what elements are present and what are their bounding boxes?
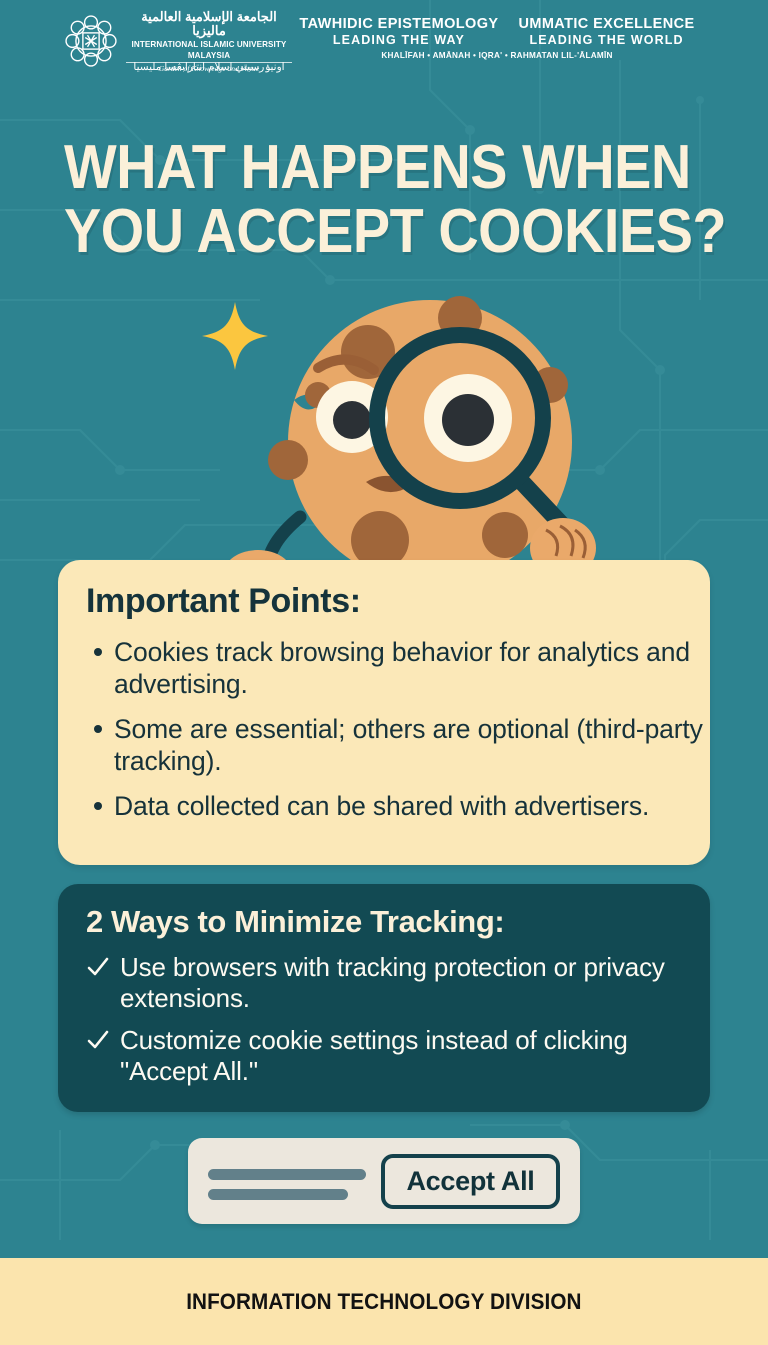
footer-bar: INFORMATION TECHNOLOGY DIVISION xyxy=(0,1258,768,1345)
logo-divider xyxy=(126,62,292,63)
slogan-left-line2: LEADING THE WAY xyxy=(299,33,498,48)
page-title-line1: WHAT HAPPENS WHEN xyxy=(64,136,658,200)
list-item: Data collected can be shared with advert… xyxy=(114,790,704,822)
header-bar: الجامعة الإسلامية العالمية ماليزيا INTER… xyxy=(0,0,768,88)
list-item: Use browsers with tracking protection or… xyxy=(84,952,694,1014)
cookie-right-eye xyxy=(424,374,512,462)
important-points-card: Important Points: Cookies track browsing… xyxy=(58,560,710,865)
slogan-left-line1: TAWHIDIC EPISTEMOLOGY xyxy=(299,16,498,33)
logo-tagline: Garden of Knowledge and Virtue xyxy=(126,64,292,73)
infographic-poster: الجامعة الإسلامية العالمية ماليزيا INTER… xyxy=(0,0,768,1345)
cookie-consent-banner-mockup: Accept All xyxy=(188,1138,580,1224)
iium-emblem-icon xyxy=(60,12,122,70)
minimize-tracking-card: 2 Ways to Minimize Tracking: Use browser… xyxy=(58,884,710,1112)
page-title: WHAT HAPPENS WHEN YOU ACCEPT COOKIES? xyxy=(64,136,658,264)
slogan-right-line2: LEADING THE WORLD xyxy=(518,33,694,48)
sparkle-icon xyxy=(202,302,268,370)
accept-all-button[interactable]: Accept All xyxy=(381,1154,560,1209)
logo-arabic-title: الجامعة الإسلامية العالمية ماليزيا xyxy=(126,10,292,38)
check-icon xyxy=(86,955,110,979)
list-item: Customize cookie settings instead of cli… xyxy=(84,1025,694,1087)
logo-english-title: INTERNATIONAL ISLAMIC UNIVERSITY MALAYSI… xyxy=(126,39,292,61)
important-points-list: Cookies track browsing behavior for anal… xyxy=(88,636,704,835)
slogan-right-line1: UMMATIC EXCELLENCE xyxy=(518,16,694,33)
slogan-right: UMMATIC EXCELLENCE LEADING THE WORLD xyxy=(518,16,694,48)
minimize-tracking-list: Use browsers with tracking protection or… xyxy=(84,952,694,1098)
banner-text-placeholder-line-1 xyxy=(208,1169,366,1180)
university-slogan: TAWHIDIC EPISTEMOLOGY LEADING THE WAY UM… xyxy=(282,16,712,60)
university-logo: الجامعة الإسلامية العالمية ماليزيا INTER… xyxy=(60,10,292,78)
list-item-label: Use browsers with tracking protection or… xyxy=(120,952,665,1013)
list-item-label: Customize cookie settings instead of cli… xyxy=(120,1025,628,1086)
list-item: Cookies track browsing behavior for anal… xyxy=(114,636,704,700)
slogan-values: KHALĪFAH • AMĀNAH • IQRA' • RAHMATAN LIL… xyxy=(282,51,712,60)
page-title-line2: YOU ACCEPT COOKIES? xyxy=(64,200,658,264)
footer-label: INFORMATION TECHNOLOGY DIVISION xyxy=(186,1289,581,1315)
list-item: Some are essential; others are optional … xyxy=(114,713,704,777)
banner-text-placeholder-line-2 xyxy=(208,1189,348,1200)
minimize-tracking-heading: 2 Ways to Minimize Tracking: xyxy=(86,904,504,940)
slogan-left: TAWHIDIC EPISTEMOLOGY LEADING THE WAY xyxy=(299,16,498,48)
check-icon xyxy=(86,1028,110,1052)
important-points-heading: Important Points: xyxy=(86,582,361,621)
